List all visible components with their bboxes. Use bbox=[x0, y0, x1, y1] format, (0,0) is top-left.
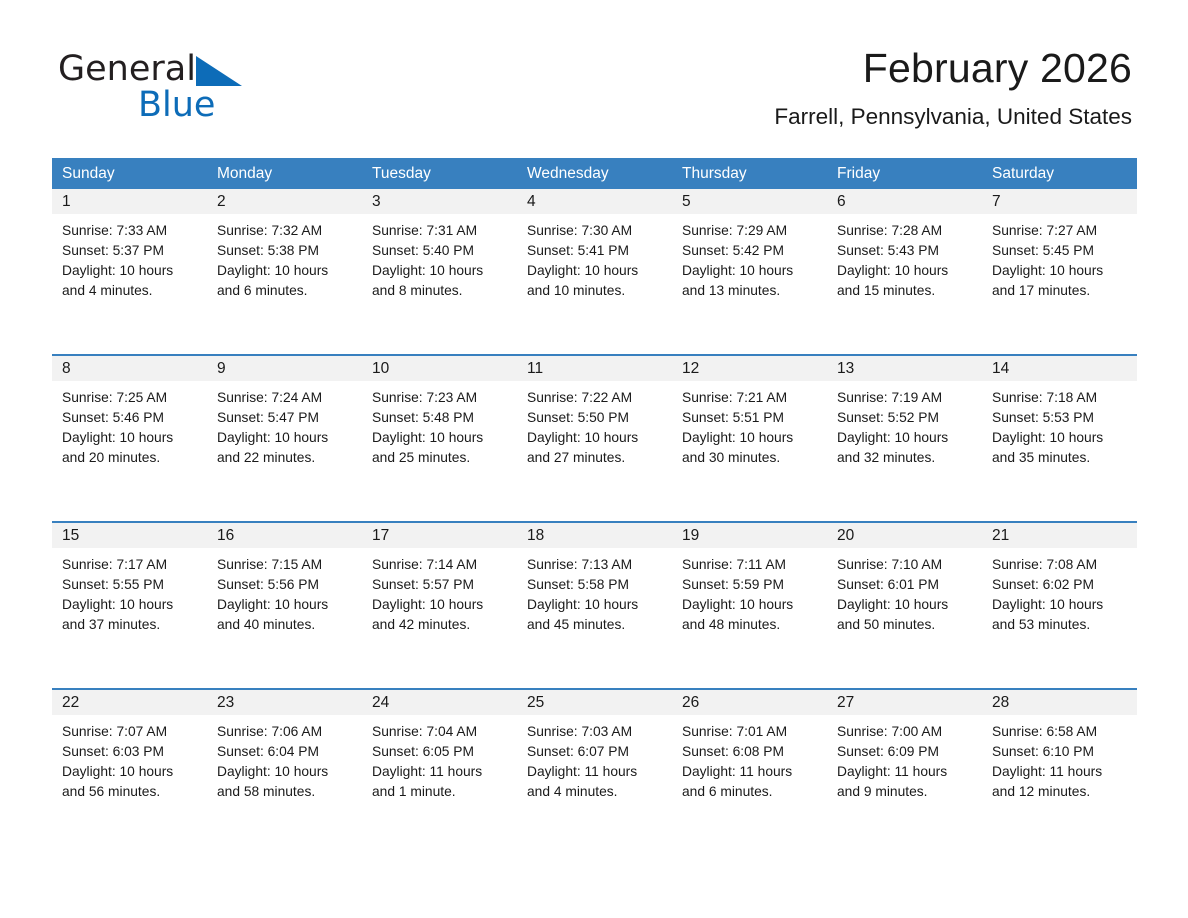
day-number: 23 bbox=[207, 690, 362, 715]
daylight-text-line1: Daylight: 10 hours bbox=[837, 595, 974, 615]
sunset-text: Sunset: 6:03 PM bbox=[62, 742, 199, 762]
daylight-text-line1: Daylight: 10 hours bbox=[682, 595, 819, 615]
sunrise-text: Sunrise: 7:25 AM bbox=[62, 388, 199, 408]
daylight-text-line2: and 45 minutes. bbox=[527, 615, 664, 635]
day-number-band: 20 bbox=[827, 523, 982, 548]
daylight-text-line1: Daylight: 11 hours bbox=[682, 762, 819, 782]
sunset-text: Sunset: 6:09 PM bbox=[837, 742, 974, 762]
day-cell[interactable]: 7 Sunrise: 7:27 AM Sunset: 5:45 PM Dayli… bbox=[982, 189, 1137, 342]
day-number-band: 10 bbox=[362, 356, 517, 381]
day-number: 15 bbox=[52, 523, 207, 548]
sunrise-text: Sunrise: 7:23 AM bbox=[372, 388, 509, 408]
logo-text-blue: Blue bbox=[138, 88, 318, 123]
title-block: February 2026 Farrell, Pennsylvania, Uni… bbox=[774, 46, 1132, 130]
sunrise-text: Sunrise: 7:08 AM bbox=[992, 555, 1129, 575]
daylight-text-line1: Daylight: 10 hours bbox=[992, 428, 1129, 448]
day-info: Sunrise: 7:04 AM Sunset: 6:05 PM Dayligh… bbox=[362, 715, 517, 802]
sunset-text: Sunset: 6:05 PM bbox=[372, 742, 509, 762]
daylight-text-line2: and 22 minutes. bbox=[217, 448, 354, 468]
sunset-text: Sunset: 5:40 PM bbox=[372, 241, 509, 261]
day-cell[interactable]: 23 Sunrise: 7:06 AM Sunset: 6:04 PM Dayl… bbox=[207, 690, 362, 843]
day-number: 1 bbox=[52, 189, 207, 214]
sunrise-text: Sunrise: 7:24 AM bbox=[217, 388, 354, 408]
day-info: Sunrise: 7:11 AM Sunset: 5:59 PM Dayligh… bbox=[672, 548, 827, 635]
daylight-text-line2: and 8 minutes. bbox=[372, 281, 509, 301]
day-info: Sunrise: 7:01 AM Sunset: 6:08 PM Dayligh… bbox=[672, 715, 827, 802]
day-number: 6 bbox=[827, 189, 982, 214]
day-cell[interactable]: 10 Sunrise: 7:23 AM Sunset: 5:48 PM Dayl… bbox=[362, 356, 517, 509]
daylight-text-line1: Daylight: 10 hours bbox=[372, 261, 509, 281]
daylight-text-line2: and 27 minutes. bbox=[527, 448, 664, 468]
week-row: 22 Sunrise: 7:07 AM Sunset: 6:03 PM Dayl… bbox=[52, 688, 1137, 843]
daylight-text-line2: and 1 minute. bbox=[372, 782, 509, 802]
day-number: 26 bbox=[672, 690, 827, 715]
day-info: Sunrise: 7:24 AM Sunset: 5:47 PM Dayligh… bbox=[207, 381, 362, 468]
day-cell[interactable]: 1 Sunrise: 7:33 AM Sunset: 5:37 PM Dayli… bbox=[52, 189, 207, 342]
week-row: 15 Sunrise: 7:17 AM Sunset: 5:55 PM Dayl… bbox=[52, 521, 1137, 676]
daylight-text-line1: Daylight: 11 hours bbox=[372, 762, 509, 782]
daylight-text-line1: Daylight: 10 hours bbox=[372, 428, 509, 448]
day-number-band: 6 bbox=[827, 189, 982, 214]
day-number-band: 16 bbox=[207, 523, 362, 548]
weekday-header-monday: Monday bbox=[207, 158, 362, 189]
sunrise-text: Sunrise: 7:18 AM bbox=[992, 388, 1129, 408]
daylight-text-line1: Daylight: 10 hours bbox=[62, 428, 199, 448]
daylight-text-line2: and 56 minutes. bbox=[62, 782, 199, 802]
day-info: Sunrise: 7:17 AM Sunset: 5:55 PM Dayligh… bbox=[52, 548, 207, 635]
day-number: 3 bbox=[362, 189, 517, 214]
calendar-page: General Blue February 2026 Farrell, Penn… bbox=[0, 0, 1188, 918]
daylight-text-line1: Daylight: 10 hours bbox=[682, 428, 819, 448]
sunset-text: Sunset: 5:56 PM bbox=[217, 575, 354, 595]
daylight-text-line2: and 9 minutes. bbox=[837, 782, 974, 802]
logo-text-general: General bbox=[58, 52, 196, 87]
daylight-text-line2: and 53 minutes. bbox=[992, 615, 1129, 635]
day-info: Sunrise: 7:07 AM Sunset: 6:03 PM Dayligh… bbox=[52, 715, 207, 802]
day-info: Sunrise: 7:30 AM Sunset: 5:41 PM Dayligh… bbox=[517, 214, 672, 301]
day-number-band: 19 bbox=[672, 523, 827, 548]
weekday-header-wednesday: Wednesday bbox=[517, 158, 672, 189]
day-number-band: 1 bbox=[52, 189, 207, 214]
daylight-text-line1: Daylight: 10 hours bbox=[837, 261, 974, 281]
weekday-header-friday: Friday bbox=[827, 158, 982, 189]
sunset-text: Sunset: 6:02 PM bbox=[992, 575, 1129, 595]
day-number: 18 bbox=[517, 523, 672, 548]
day-info: Sunrise: 7:25 AM Sunset: 5:46 PM Dayligh… bbox=[52, 381, 207, 468]
daylight-text-line2: and 4 minutes. bbox=[527, 782, 664, 802]
daylight-text-line2: and 30 minutes. bbox=[682, 448, 819, 468]
day-cell[interactable]: 15 Sunrise: 7:17 AM Sunset: 5:55 PM Dayl… bbox=[52, 523, 207, 676]
daylight-text-line1: Daylight: 10 hours bbox=[527, 261, 664, 281]
day-cell[interactable]: 19 Sunrise: 7:11 AM Sunset: 5:59 PM Dayl… bbox=[672, 523, 827, 676]
sunrise-text: Sunrise: 7:30 AM bbox=[527, 221, 664, 241]
sunset-text: Sunset: 5:53 PM bbox=[992, 408, 1129, 428]
day-cell[interactable]: 4 Sunrise: 7:30 AM Sunset: 5:41 PM Dayli… bbox=[517, 189, 672, 342]
sunrise-text: Sunrise: 7:15 AM bbox=[217, 555, 354, 575]
day-number-band: 17 bbox=[362, 523, 517, 548]
day-info: Sunrise: 7:32 AM Sunset: 5:38 PM Dayligh… bbox=[207, 214, 362, 301]
daylight-text-line2: and 58 minutes. bbox=[217, 782, 354, 802]
day-cell[interactable]: 18 Sunrise: 7:13 AM Sunset: 5:58 PM Dayl… bbox=[517, 523, 672, 676]
sunrise-text: Sunrise: 7:06 AM bbox=[217, 722, 354, 742]
daylight-text-line1: Daylight: 10 hours bbox=[62, 762, 199, 782]
day-info: Sunrise: 7:06 AM Sunset: 6:04 PM Dayligh… bbox=[207, 715, 362, 802]
day-number-band: 25 bbox=[517, 690, 672, 715]
sunrise-text: Sunrise: 7:13 AM bbox=[527, 555, 664, 575]
day-cell[interactable]: 2 Sunrise: 7:32 AM Sunset: 5:38 PM Dayli… bbox=[207, 189, 362, 342]
day-cell[interactable]: 12 Sunrise: 7:21 AM Sunset: 5:51 PM Dayl… bbox=[672, 356, 827, 509]
day-info: Sunrise: 7:14 AM Sunset: 5:57 PM Dayligh… bbox=[362, 548, 517, 635]
daylight-text-line2: and 6 minutes. bbox=[217, 281, 354, 301]
sunset-text: Sunset: 5:38 PM bbox=[217, 241, 354, 261]
sunset-text: Sunset: 5:43 PM bbox=[837, 241, 974, 261]
day-cell[interactable]: 25 Sunrise: 7:03 AM Sunset: 6:07 PM Dayl… bbox=[517, 690, 672, 843]
day-number: 4 bbox=[517, 189, 672, 214]
daylight-text-line2: and 32 minutes. bbox=[837, 448, 974, 468]
sunrise-text: Sunrise: 7:22 AM bbox=[527, 388, 664, 408]
day-info: Sunrise: 7:27 AM Sunset: 5:45 PM Dayligh… bbox=[982, 214, 1137, 301]
day-number-band: 2 bbox=[207, 189, 362, 214]
sunset-text: Sunset: 5:45 PM bbox=[992, 241, 1129, 261]
day-cell[interactable]: 27 Sunrise: 7:00 AM Sunset: 6:09 PM Dayl… bbox=[827, 690, 982, 843]
day-cell[interactable]: 22 Sunrise: 7:07 AM Sunset: 6:03 PM Dayl… bbox=[52, 690, 207, 843]
daylight-text-line1: Daylight: 11 hours bbox=[992, 762, 1129, 782]
day-cell[interactable]: 6 Sunrise: 7:28 AM Sunset: 5:43 PM Dayli… bbox=[827, 189, 982, 342]
day-cell[interactable]: 9 Sunrise: 7:24 AM Sunset: 5:47 PM Dayli… bbox=[207, 356, 362, 509]
day-number-band: 22 bbox=[52, 690, 207, 715]
day-number-band: 5 bbox=[672, 189, 827, 214]
sunrise-text: Sunrise: 7:32 AM bbox=[217, 221, 354, 241]
daylight-text-line2: and 6 minutes. bbox=[682, 782, 819, 802]
day-cell[interactable]: 13 Sunrise: 7:19 AM Sunset: 5:52 PM Dayl… bbox=[827, 356, 982, 509]
day-number-band: 14 bbox=[982, 356, 1137, 381]
daylight-text-line2: and 13 minutes. bbox=[682, 281, 819, 301]
day-info: Sunrise: 7:23 AM Sunset: 5:48 PM Dayligh… bbox=[362, 381, 517, 468]
daylight-text-line2: and 10 minutes. bbox=[527, 281, 664, 301]
day-info: Sunrise: 7:29 AM Sunset: 5:42 PM Dayligh… bbox=[672, 214, 827, 301]
sunrise-text: Sunrise: 7:07 AM bbox=[62, 722, 199, 742]
day-info: Sunrise: 7:28 AM Sunset: 5:43 PM Dayligh… bbox=[827, 214, 982, 301]
sunrise-text: Sunrise: 7:29 AM bbox=[682, 221, 819, 241]
daylight-text-line2: and 37 minutes. bbox=[62, 615, 199, 635]
sunset-text: Sunset: 5:58 PM bbox=[527, 575, 664, 595]
day-info: Sunrise: 7:22 AM Sunset: 5:50 PM Dayligh… bbox=[517, 381, 672, 468]
page-subtitle-location: Farrell, Pennsylvania, United States bbox=[774, 104, 1132, 130]
day-info: Sunrise: 7:13 AM Sunset: 5:58 PM Dayligh… bbox=[517, 548, 672, 635]
page-title: February 2026 bbox=[774, 46, 1132, 92]
sunset-text: Sunset: 5:47 PM bbox=[217, 408, 354, 428]
daylight-text-line2: and 42 minutes. bbox=[372, 615, 509, 635]
day-number: 5 bbox=[672, 189, 827, 214]
day-number: 24 bbox=[362, 690, 517, 715]
day-cell[interactable]: 28 Sunrise: 6:58 AM Sunset: 6:10 PM Dayl… bbox=[982, 690, 1137, 843]
day-info: Sunrise: 7:08 AM Sunset: 6:02 PM Dayligh… bbox=[982, 548, 1137, 635]
daylight-text-line1: Daylight: 10 hours bbox=[217, 261, 354, 281]
day-number: 21 bbox=[982, 523, 1137, 548]
sunrise-text: Sunrise: 7:27 AM bbox=[992, 221, 1129, 241]
daylight-text-line1: Daylight: 10 hours bbox=[527, 428, 664, 448]
day-number-band: 9 bbox=[207, 356, 362, 381]
sunset-text: Sunset: 5:55 PM bbox=[62, 575, 199, 595]
day-info: Sunrise: 6:58 AM Sunset: 6:10 PM Dayligh… bbox=[982, 715, 1137, 802]
sunrise-text: Sunrise: 7:33 AM bbox=[62, 221, 199, 241]
day-cell[interactable]: 3 Sunrise: 7:31 AM Sunset: 5:40 PM Dayli… bbox=[362, 189, 517, 342]
day-cell[interactable]: 26 Sunrise: 7:01 AM Sunset: 6:08 PM Dayl… bbox=[672, 690, 827, 843]
daylight-text-line1: Daylight: 10 hours bbox=[992, 261, 1129, 281]
sunset-text: Sunset: 6:04 PM bbox=[217, 742, 354, 762]
day-number: 17 bbox=[362, 523, 517, 548]
sunrise-text: Sunrise: 7:21 AM bbox=[682, 388, 819, 408]
day-number: 25 bbox=[517, 690, 672, 715]
day-cell[interactable]: 24 Sunrise: 7:04 AM Sunset: 6:05 PM Dayl… bbox=[362, 690, 517, 843]
daylight-text-line1: Daylight: 10 hours bbox=[217, 762, 354, 782]
day-number-band: 28 bbox=[982, 690, 1137, 715]
daylight-text-line1: Daylight: 10 hours bbox=[992, 595, 1129, 615]
daylight-text-line1: Daylight: 11 hours bbox=[527, 762, 664, 782]
day-number: 8 bbox=[52, 356, 207, 381]
day-info: Sunrise: 7:00 AM Sunset: 6:09 PM Dayligh… bbox=[827, 715, 982, 802]
day-info: Sunrise: 7:31 AM Sunset: 5:40 PM Dayligh… bbox=[362, 214, 517, 301]
sunrise-text: Sunrise: 7:10 AM bbox=[837, 555, 974, 575]
day-number-band: 8 bbox=[52, 356, 207, 381]
day-number: 10 bbox=[362, 356, 517, 381]
sunrise-text: Sunrise: 7:11 AM bbox=[682, 555, 819, 575]
sunset-text: Sunset: 5:57 PM bbox=[372, 575, 509, 595]
day-number-band: 23 bbox=[207, 690, 362, 715]
day-info: Sunrise: 7:18 AM Sunset: 5:53 PM Dayligh… bbox=[982, 381, 1137, 468]
sunrise-text: Sunrise: 7:19 AM bbox=[837, 388, 974, 408]
logo-line-general: General bbox=[58, 52, 318, 90]
day-number-band: 27 bbox=[827, 690, 982, 715]
daylight-text-line2: and 4 minutes. bbox=[62, 281, 199, 301]
logo-triangle-icon bbox=[196, 56, 242, 86]
day-number: 11 bbox=[517, 356, 672, 381]
day-number-band: 4 bbox=[517, 189, 672, 214]
day-number: 16 bbox=[207, 523, 362, 548]
weekday-header-saturday: Saturday bbox=[982, 158, 1137, 189]
day-number: 14 bbox=[982, 356, 1137, 381]
weekday-header-row: Sunday Monday Tuesday Wednesday Thursday… bbox=[52, 158, 1137, 189]
daylight-text-line1: Daylight: 10 hours bbox=[62, 595, 199, 615]
sunrise-text: Sunrise: 7:28 AM bbox=[837, 221, 974, 241]
daylight-text-line2: and 40 minutes. bbox=[217, 615, 354, 635]
calendar-grid: Sunday Monday Tuesday Wednesday Thursday… bbox=[52, 158, 1137, 843]
sunset-text: Sunset: 5:50 PM bbox=[527, 408, 664, 428]
daylight-text-line1: Daylight: 10 hours bbox=[217, 595, 354, 615]
daylight-text-line1: Daylight: 11 hours bbox=[837, 762, 974, 782]
sunrise-text: Sunrise: 7:31 AM bbox=[372, 221, 509, 241]
daylight-text-line1: Daylight: 10 hours bbox=[217, 428, 354, 448]
day-cell[interactable]: 20 Sunrise: 7:10 AM Sunset: 6:01 PM Dayl… bbox=[827, 523, 982, 676]
sunset-text: Sunset: 6:07 PM bbox=[527, 742, 664, 762]
day-info: Sunrise: 7:03 AM Sunset: 6:07 PM Dayligh… bbox=[517, 715, 672, 802]
weekday-header-sunday: Sunday bbox=[52, 158, 207, 189]
day-number: 2 bbox=[207, 189, 362, 214]
weekday-header-thursday: Thursday bbox=[672, 158, 827, 189]
page-header: General Blue February 2026 Farrell, Penn… bbox=[0, 0, 1188, 116]
sunset-text: Sunset: 5:46 PM bbox=[62, 408, 199, 428]
day-cell[interactable]: 5 Sunrise: 7:29 AM Sunset: 5:42 PM Dayli… bbox=[672, 189, 827, 342]
day-cell[interactable]: 21 Sunrise: 7:08 AM Sunset: 6:02 PM Dayl… bbox=[982, 523, 1137, 676]
sunset-text: Sunset: 5:42 PM bbox=[682, 241, 819, 261]
daylight-text-line2: and 50 minutes. bbox=[837, 615, 974, 635]
daylight-text-line2: and 48 minutes. bbox=[682, 615, 819, 635]
daylight-text-line1: Daylight: 10 hours bbox=[372, 595, 509, 615]
day-cell[interactable]: 16 Sunrise: 7:15 AM Sunset: 5:56 PM Dayl… bbox=[207, 523, 362, 676]
sunrise-text: Sunrise: 7:04 AM bbox=[372, 722, 509, 742]
sunset-text: Sunset: 5:51 PM bbox=[682, 408, 819, 428]
day-info: Sunrise: 7:33 AM Sunset: 5:37 PM Dayligh… bbox=[52, 214, 207, 301]
day-number-band: 12 bbox=[672, 356, 827, 381]
day-cell[interactable]: 17 Sunrise: 7:14 AM Sunset: 5:57 PM Dayl… bbox=[362, 523, 517, 676]
day-number-band: 3 bbox=[362, 189, 517, 214]
sunset-text: Sunset: 6:08 PM bbox=[682, 742, 819, 762]
day-number: 20 bbox=[827, 523, 982, 548]
day-number: 28 bbox=[982, 690, 1137, 715]
day-number-band: 11 bbox=[517, 356, 672, 381]
daylight-text-line2: and 12 minutes. bbox=[992, 782, 1129, 802]
sunset-text: Sunset: 5:59 PM bbox=[682, 575, 819, 595]
day-number-band: 13 bbox=[827, 356, 982, 381]
sunset-text: Sunset: 6:10 PM bbox=[992, 742, 1129, 762]
sunrise-text: Sunrise: 7:01 AM bbox=[682, 722, 819, 742]
day-number-band: 18 bbox=[517, 523, 672, 548]
sunset-text: Sunset: 6:01 PM bbox=[837, 575, 974, 595]
daylight-text-line2: and 20 minutes. bbox=[62, 448, 199, 468]
daylight-text-line1: Daylight: 10 hours bbox=[837, 428, 974, 448]
day-cell[interactable]: 8 Sunrise: 7:25 AM Sunset: 5:46 PM Dayli… bbox=[52, 356, 207, 509]
daylight-text-line2: and 25 minutes. bbox=[372, 448, 509, 468]
day-number: 22 bbox=[52, 690, 207, 715]
day-info: Sunrise: 7:10 AM Sunset: 6:01 PM Dayligh… bbox=[827, 548, 982, 635]
sunrise-text: Sunrise: 7:14 AM bbox=[372, 555, 509, 575]
sunrise-text: Sunrise: 7:00 AM bbox=[837, 722, 974, 742]
day-number: 27 bbox=[827, 690, 982, 715]
generalblue-logo[interactable]: General Blue bbox=[58, 52, 318, 126]
day-cell[interactable]: 11 Sunrise: 7:22 AM Sunset: 5:50 PM Dayl… bbox=[517, 356, 672, 509]
day-info: Sunrise: 7:21 AM Sunset: 5:51 PM Dayligh… bbox=[672, 381, 827, 468]
daylight-text-line1: Daylight: 10 hours bbox=[527, 595, 664, 615]
weekday-header-tuesday: Tuesday bbox=[362, 158, 517, 189]
day-cell[interactable]: 14 Sunrise: 7:18 AM Sunset: 5:53 PM Dayl… bbox=[982, 356, 1137, 509]
sunrise-text: Sunrise: 7:17 AM bbox=[62, 555, 199, 575]
sunset-text: Sunset: 5:48 PM bbox=[372, 408, 509, 428]
day-number-band: 24 bbox=[362, 690, 517, 715]
daylight-text-line2: and 35 minutes. bbox=[992, 448, 1129, 468]
daylight-text-line2: and 17 minutes. bbox=[992, 281, 1129, 301]
day-number: 13 bbox=[827, 356, 982, 381]
day-number-band: 15 bbox=[52, 523, 207, 548]
day-info: Sunrise: 7:15 AM Sunset: 5:56 PM Dayligh… bbox=[207, 548, 362, 635]
day-number-band: 26 bbox=[672, 690, 827, 715]
day-number: 19 bbox=[672, 523, 827, 548]
daylight-text-line1: Daylight: 10 hours bbox=[62, 261, 199, 281]
sunrise-text: Sunrise: 6:58 AM bbox=[992, 722, 1129, 742]
day-number-band: 21 bbox=[982, 523, 1137, 548]
day-info: Sunrise: 7:19 AM Sunset: 5:52 PM Dayligh… bbox=[827, 381, 982, 468]
day-number: 12 bbox=[672, 356, 827, 381]
day-number: 9 bbox=[207, 356, 362, 381]
sunset-text: Sunset: 5:37 PM bbox=[62, 241, 199, 261]
sunset-text: Sunset: 5:41 PM bbox=[527, 241, 664, 261]
week-row: 8 Sunrise: 7:25 AM Sunset: 5:46 PM Dayli… bbox=[52, 354, 1137, 509]
sunset-text: Sunset: 5:52 PM bbox=[837, 408, 974, 428]
day-number: 7 bbox=[982, 189, 1137, 214]
day-number-band: 7 bbox=[982, 189, 1137, 214]
daylight-text-line1: Daylight: 10 hours bbox=[682, 261, 819, 281]
daylight-text-line2: and 15 minutes. bbox=[837, 281, 974, 301]
week-row: 1 Sunrise: 7:33 AM Sunset: 5:37 PM Dayli… bbox=[52, 189, 1137, 342]
sunrise-text: Sunrise: 7:03 AM bbox=[527, 722, 664, 742]
